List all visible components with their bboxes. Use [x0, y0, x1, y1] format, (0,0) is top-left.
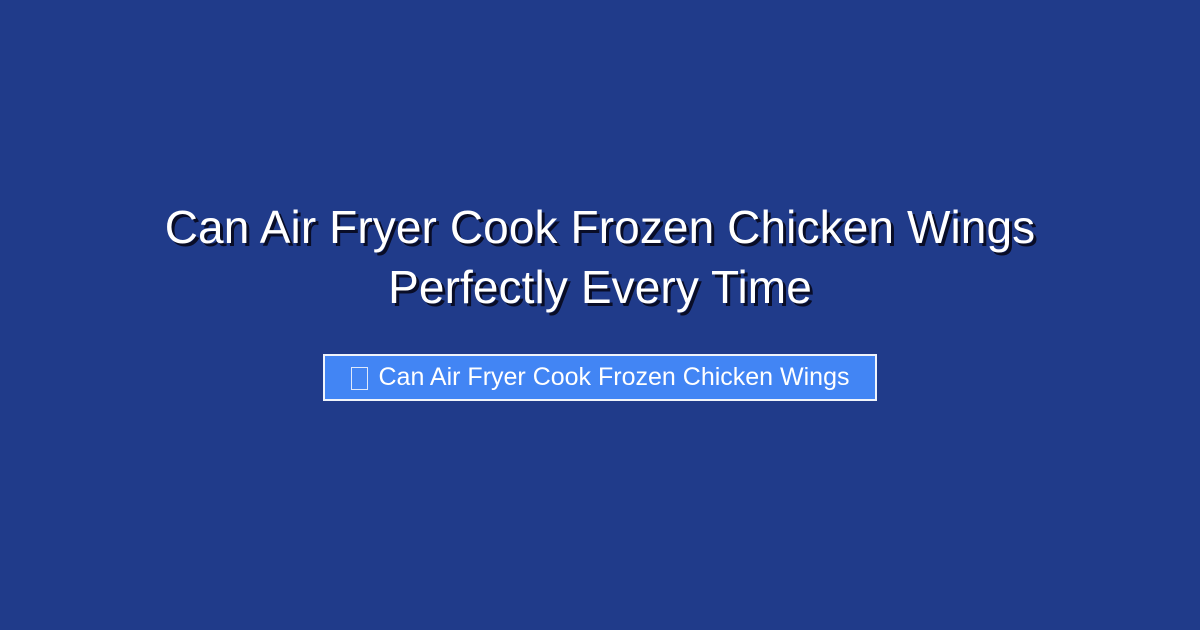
cta-button[interactable]: Can Air Fryer Cook Frozen Chicken Wings — [323, 354, 878, 401]
title-block: Can Air Fryer Cook Frozen Chicken Wings … — [0, 197, 1200, 317]
missing-glyph-box-icon — [351, 367, 368, 390]
cta-button-label: Can Air Fryer Cook Frozen Chicken Wings — [379, 365, 850, 390]
page-title: Can Air Fryer Cook Frozen Chicken Wings … — [60, 197, 1140, 317]
social-share-card: Can Air Fryer Cook Frozen Chicken Wings … — [0, 0, 1200, 630]
cta-container: Can Air Fryer Cook Frozen Chicken Wings — [0, 354, 1200, 401]
